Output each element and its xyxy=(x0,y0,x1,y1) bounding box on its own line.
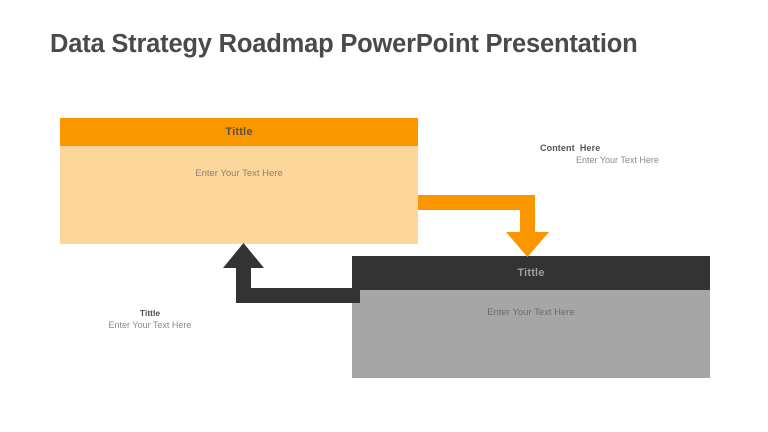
arrow-down-orange-icon xyxy=(418,195,549,257)
note-tittle-left-text: Enter Your Text Here xyxy=(85,320,215,330)
card-dark[interactable]: Tittle Enter Your Text Here xyxy=(352,256,710,378)
card-dark-header: Tittle xyxy=(352,256,710,290)
card-dark-title: Tittle xyxy=(517,267,544,279)
note-content-here-text: Enter Your Text Here xyxy=(576,155,740,165)
card-orange[interactable]: Tittle Enter Your Text Here xyxy=(60,118,418,244)
note-tittle-left: Tittle Enter Your Text Here xyxy=(85,308,215,330)
note-content-here: Content Here Enter Your Text Here xyxy=(540,143,740,165)
note-content-here-title: Content Here xyxy=(540,143,740,153)
slide-canvas: Data Strategy Roadmap PowerPoint Present… xyxy=(0,0,768,432)
card-dark-body: Enter Your Text Here xyxy=(352,290,710,378)
card-orange-body: Enter Your Text Here xyxy=(60,146,418,244)
note-tittle-left-title: Tittle xyxy=(85,308,215,318)
card-orange-text: Enter Your Text Here xyxy=(60,168,418,179)
page-title: Data Strategy Roadmap PowerPoint Present… xyxy=(50,28,730,60)
arrow-up-dark-icon xyxy=(223,243,360,303)
card-orange-title: Tittle xyxy=(225,126,252,138)
card-dark-text: Enter Your Text Here xyxy=(352,307,710,318)
card-orange-header: Tittle xyxy=(60,118,418,146)
